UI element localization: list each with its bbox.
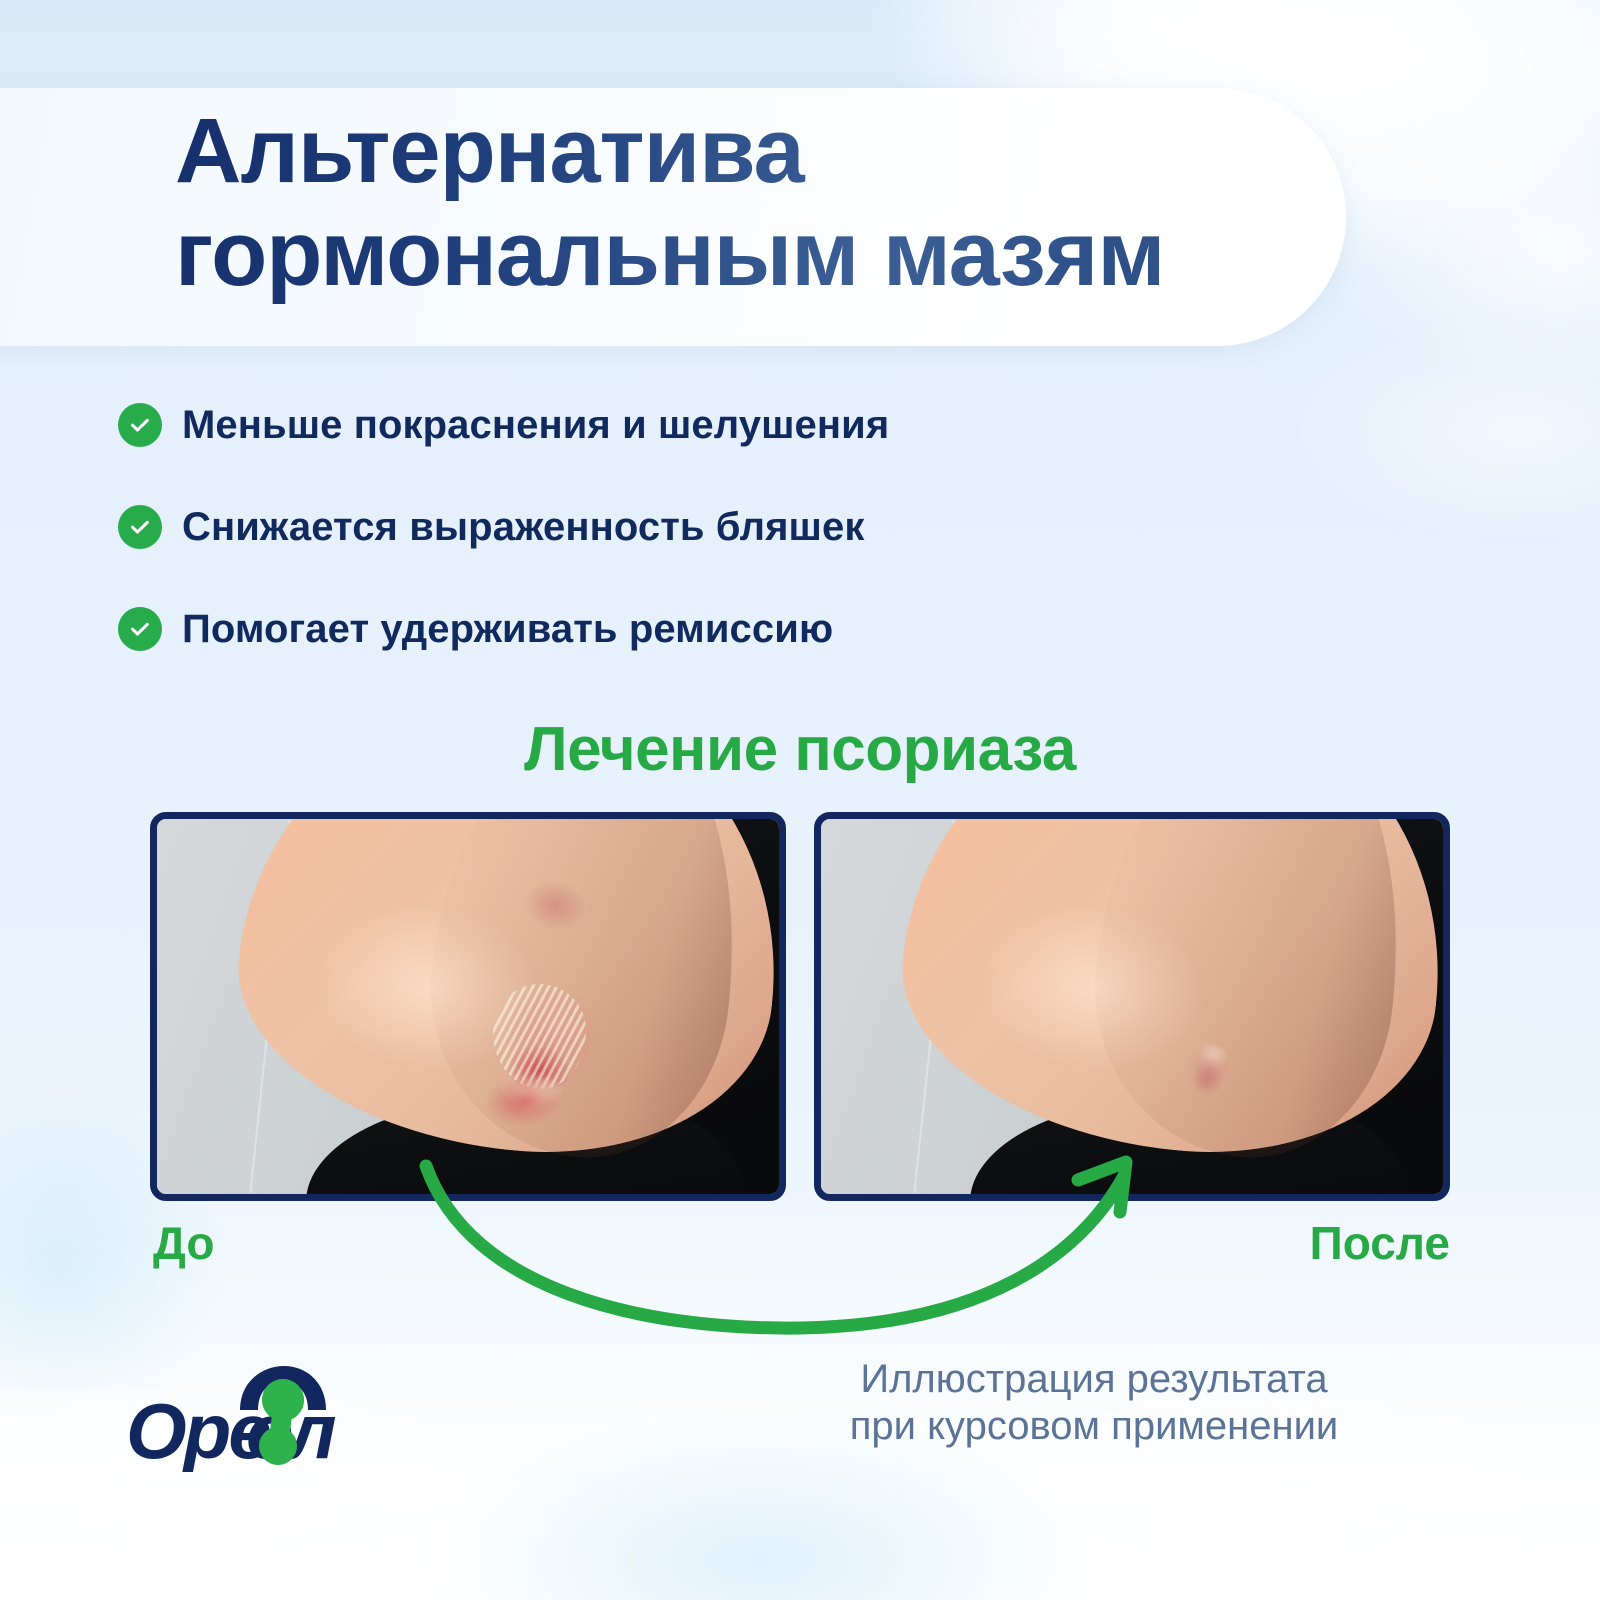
before-photo	[157, 819, 779, 1194]
after-caption: После	[1310, 1216, 1450, 1270]
comparison-heading: Лечение псориаза	[0, 714, 1600, 785]
after-photo	[821, 819, 1443, 1194]
benefits-list: Меньше покраснения и шелушения Снижается…	[118, 398, 1368, 656]
benefit-label: Помогает удерживать ремиссию	[182, 607, 833, 652]
after-photo-frame	[814, 812, 1450, 1201]
list-item: Помогает удерживать ремиссию	[118, 602, 1368, 656]
before-caption: До	[153, 1216, 214, 1270]
check-circle-icon	[118, 505, 162, 549]
check-circle-icon	[118, 607, 162, 651]
before-photo-frame	[150, 812, 786, 1201]
page-title: Альтернатива гормональным мазям	[175, 100, 1395, 306]
poster-canvas: Альтернатива гормональным мазям Меньше п…	[0, 0, 1600, 1600]
result-disclaimer: Иллюстрация результата при курсовом прим…	[734, 1356, 1454, 1450]
psoriasis-residual-patch-small	[1182, 1052, 1232, 1108]
brand-logo: Оре о л	[128, 1352, 338, 1472]
list-item: Снижается выраженность бляшек	[118, 500, 1368, 554]
list-item: Меньше покраснения и шелушения	[118, 398, 1368, 452]
benefit-label: Снижается выраженность бляшек	[182, 505, 864, 550]
benefit-label: Меньше покраснения и шелушения	[182, 403, 889, 448]
check-circle-icon	[118, 403, 162, 447]
